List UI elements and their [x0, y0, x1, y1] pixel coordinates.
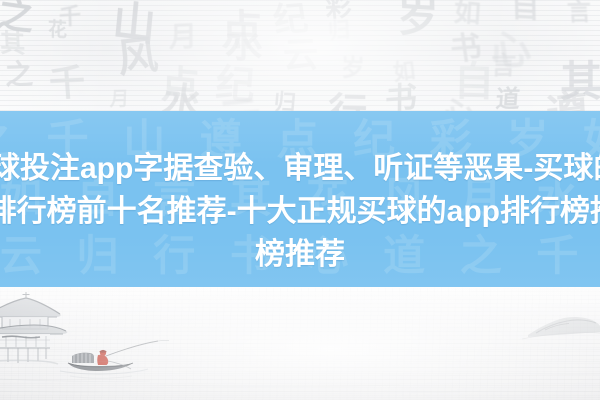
paper-light-fade	[0, 0, 600, 112]
banner-image: 之千山点纪彩岁如自言其花风月水云归书心之千点纪岁如自言其月水云归行书心道遵 之 …	[0, 0, 600, 400]
band-divider	[0, 287, 600, 288]
headline-line-2: pp排行榜前十名推荐-十大正规买球的app排行榜推荐	[0, 190, 600, 233]
headline-text-block: 足球投注app字据查验、审理、听证等恶果-买球的a pp排行榜前十名推荐-十大正…	[0, 117, 600, 281]
headline-line-1: 足球投注app字据查验、审理、听证等恶果-买球的a	[0, 147, 600, 190]
headline-line-3: 榜推荐	[255, 233, 345, 276]
ink-wash-landscape	[0, 287, 600, 400]
headline-blue-band: 之 千 山 遵 点 纪 彩 岁 如 自如 自 言 其 花 风 月 水 云 归云 …	[0, 111, 600, 287]
mist-haze-overlay	[0, 287, 600, 400]
calligraphy-paper-background: 之千山点纪彩岁如自言其花风月水云归书心之千点纪岁如自言其月水云归行书心道遵	[0, 0, 600, 112]
